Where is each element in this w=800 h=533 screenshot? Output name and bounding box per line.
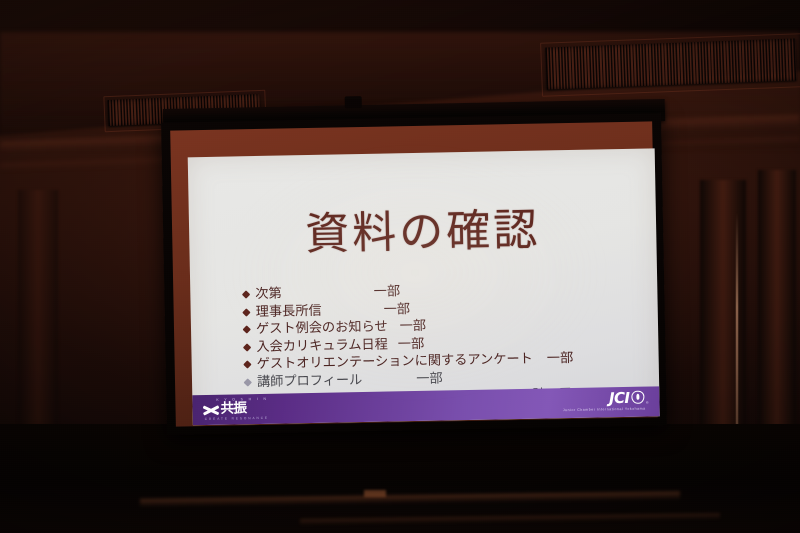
bullet-count: 一部 (416, 370, 443, 388)
diamond-bullet-icon (244, 378, 252, 386)
diamond-bullet-icon (243, 325, 251, 333)
jci-wordmark: JCI (609, 391, 630, 406)
x-mark-icon (202, 404, 219, 416)
bullet-count: 一部 (547, 350, 574, 368)
diamond-bullet-icon (242, 308, 250, 316)
diamond-bullet-icon (243, 343, 251, 351)
diamond-bullet-icon (243, 361, 251, 369)
projection-spill-border: 資料の確認 次第 一部 理事長所信 一部 ゲスト例会のお知らせ (170, 121, 658, 426)
bullet-count: 一部 (398, 336, 425, 354)
jci-tagline: Junior Chamber International Yokohama (563, 406, 646, 413)
bullet-count: 一部 (399, 318, 426, 336)
bullet-count: 一部 (383, 301, 410, 319)
slide-title: 資料の確認 (189, 206, 657, 259)
screen-mount-bracket (345, 96, 362, 108)
stage-object-highlight (364, 490, 386, 497)
presentation-slide: 資料の確認 次第 一部 理事長所信 一部 ゲスト例会のお知らせ (188, 148, 660, 425)
jci-logo-mark-row: JCI ® (609, 391, 646, 407)
jci-globe-pin-icon: ® (631, 391, 645, 406)
bullet-count: 一部 (374, 283, 401, 301)
jci-logo: JCI ® Junior Chamber International Yokoh… (562, 391, 645, 417)
projection-screen: 資料の確認 次第 一部 理事長所信 一部 ゲスト例会のお知らせ (161, 113, 667, 435)
jci-pin-shape (636, 393, 640, 399)
kyoshin-logo: K Y O S H I N 共振 CREATE RESONANCE (202, 396, 298, 423)
kyoshin-logo-bottom-text: CREATE RESONANCE (203, 415, 299, 422)
diamond-bullet-icon (242, 290, 250, 298)
bullet-label: 理事長所信 (256, 302, 322, 321)
jci-trademark-symbol: ® (646, 401, 649, 405)
screenshot-root: 資料の確認 次第 一部 理事長所信 一部 ゲスト例会のお知らせ (0, 0, 800, 533)
bullet-label: 講師プロフィール (257, 372, 363, 392)
bullet-label: 次第 (255, 286, 282, 304)
kyoshin-logo-kanji: 共振 (220, 402, 246, 416)
